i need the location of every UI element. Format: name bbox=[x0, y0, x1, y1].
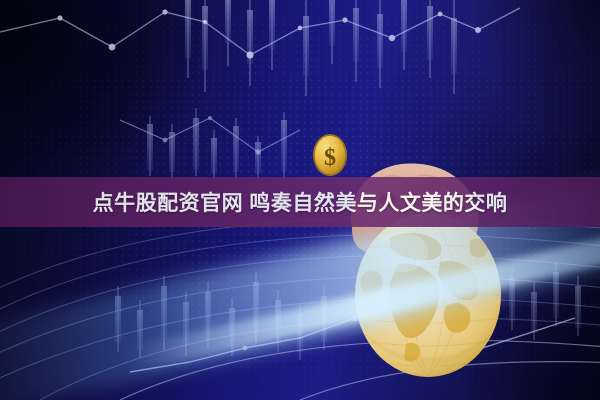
candlestick-group-mid bbox=[147, 108, 287, 178]
candlestick-group-top bbox=[185, 0, 457, 96]
promo-banner: $ 点牛股配资官网 鸣奏自然美与人文美的交响 bbox=[0, 0, 600, 400]
trendline-upper bbox=[0, 8, 520, 59]
banner-title: 点牛股配资官网 鸣奏自然美与人文美的交响 bbox=[93, 187, 508, 217]
dollar-sign-glyph: $ bbox=[324, 145, 336, 171]
gold-coin-dollar: $ bbox=[313, 134, 347, 176]
title-band: 点牛股配资官网 鸣奏自然美与人文美的交响 bbox=[0, 177, 600, 227]
